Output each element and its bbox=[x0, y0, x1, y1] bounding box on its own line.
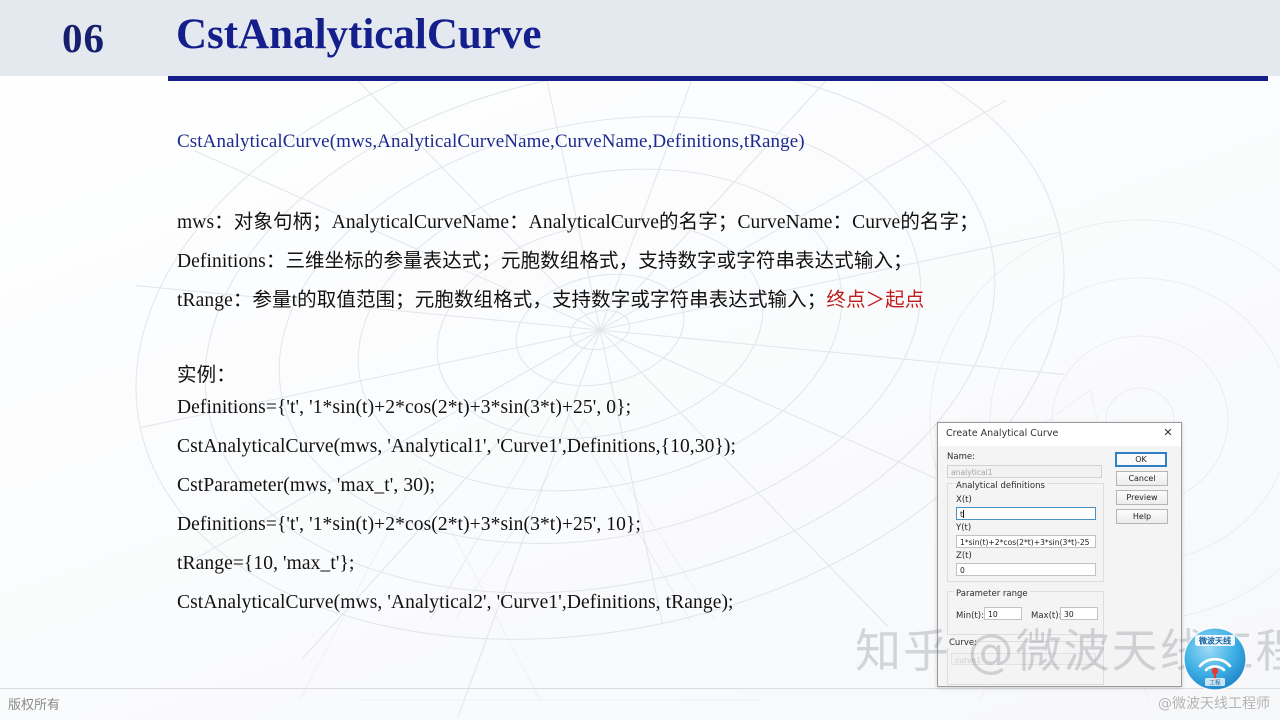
code-line-1: Definitions={'t', '1*sin(t)+2*cos(2*t)+3… bbox=[177, 397, 631, 419]
dialog-titlebar: Create Analytical Curve ✕ bbox=[938, 423, 1181, 446]
brand-logo-icon: 微波天线 工程 bbox=[1183, 627, 1247, 691]
close-icon[interactable]: ✕ bbox=[1161, 426, 1175, 440]
code-line-3: CstParameter(mws, 'max_t', 30); bbox=[177, 475, 435, 497]
footer-handle: @微波天线工程师 bbox=[1158, 693, 1270, 713]
trange-note: 终点＞起点 bbox=[826, 290, 924, 311]
dialog-title: Create Analytical Curve bbox=[946, 428, 1058, 439]
text-caret bbox=[963, 510, 964, 518]
footer-divider bbox=[0, 688, 1280, 689]
code-line-5: tRange={10, 'max_t'}; bbox=[177, 553, 355, 575]
param-line-trange: tRange：参量t的取值范围；元胞数组格式，支持数字或字符串表达式输入；终点＞… bbox=[177, 283, 924, 312]
copyright-text: 版权所有 bbox=[8, 694, 60, 713]
parameter-range-label: Parameter range bbox=[954, 589, 1030, 599]
code-line-6: CstAnalyticalCurve(mws, 'Analytical2', '… bbox=[177, 592, 734, 614]
svg-text:工程: 工程 bbox=[1209, 678, 1221, 686]
name-input[interactable]: analytical1 bbox=[947, 465, 1102, 478]
example-label: 实例： bbox=[177, 358, 236, 387]
svg-text:微波天线: 微波天线 bbox=[1198, 636, 1231, 646]
name-label: Name: bbox=[947, 452, 975, 462]
yt-label: Y(t) bbox=[956, 523, 971, 533]
param-trange-text: tRange：参量t的取值范围；元胞数组格式，支持数字或字符串表达式输入； bbox=[177, 290, 826, 311]
ok-button[interactable]: OK bbox=[1115, 452, 1167, 467]
xt-label: X(t) bbox=[956, 495, 972, 505]
cancel-button[interactable]: Cancel bbox=[1116, 471, 1168, 486]
code-line-4: Definitions={'t', '1*sin(t)+2*cos(2*t)+3… bbox=[177, 514, 641, 536]
help-button[interactable]: Help bbox=[1116, 509, 1168, 524]
function-signature: CstAnalyticalCurve(mws,AnalyticalCurveNa… bbox=[177, 131, 805, 153]
zt-input[interactable]: 0 bbox=[956, 563, 1096, 576]
yt-input[interactable]: 1*sin(t)+2*cos(2*t)+3*sin(3*t)-25 bbox=[956, 535, 1096, 548]
xt-input[interactable]: t bbox=[956, 507, 1096, 520]
code-line-2: CstAnalyticalCurve(mws, 'Analytical1', '… bbox=[177, 436, 736, 458]
analytical-definitions-label: Analytical definitions bbox=[954, 481, 1047, 491]
preview-button[interactable]: Preview bbox=[1116, 490, 1168, 505]
param-line-mws: mws：对象句柄；AnalyticalCurveName：AnalyticalC… bbox=[177, 205, 979, 234]
zt-label: Z(t) bbox=[956, 551, 972, 561]
param-line-definitions: Definitions：三维坐标的参量表达式；元胞数组格式，支持数字或字符串表达… bbox=[177, 244, 913, 273]
